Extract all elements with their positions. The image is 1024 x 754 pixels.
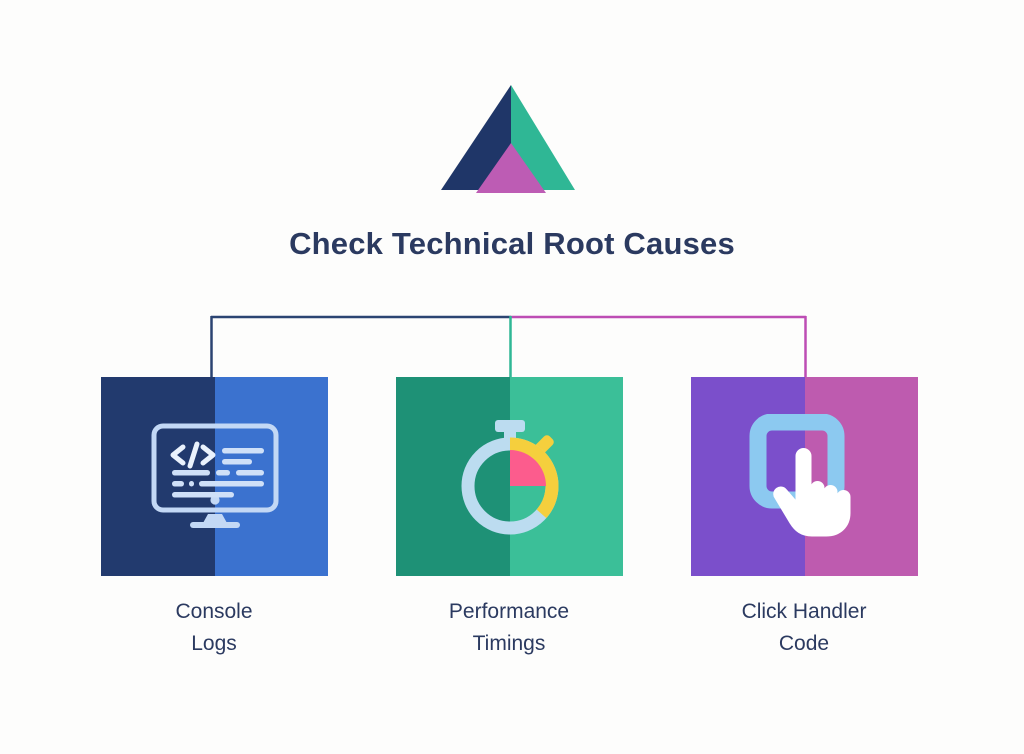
card-label-line-1: Console	[175, 600, 252, 623]
card-label-line-1: Performance	[449, 600, 569, 623]
card-console-logs[interactable]	[101, 377, 328, 576]
page-title: Check Technical Root Causes	[0, 226, 1024, 262]
card-label-performance-timings: Performance Timings	[369, 596, 649, 660]
card-label-click-handler-code: Click Handler Code	[664, 596, 944, 660]
click-hand-icon	[691, 377, 918, 576]
card-label-line-2: Logs	[74, 628, 354, 660]
card-performance-timings[interactable]	[396, 377, 623, 576]
card-label-console-logs: Console Logs	[74, 596, 354, 660]
card-click-handler-code[interactable]	[691, 377, 918, 576]
triangle-logo	[441, 85, 581, 195]
card-label-line-2: Timings	[369, 628, 649, 660]
monitor-code-icon	[101, 377, 328, 576]
card-label-line-1: Click Handler	[742, 600, 867, 623]
card-label-line-2: Code	[664, 628, 944, 660]
diagram-canvas: Check Technical Root Causes	[0, 0, 1024, 754]
stopwatch-icon	[396, 377, 623, 576]
